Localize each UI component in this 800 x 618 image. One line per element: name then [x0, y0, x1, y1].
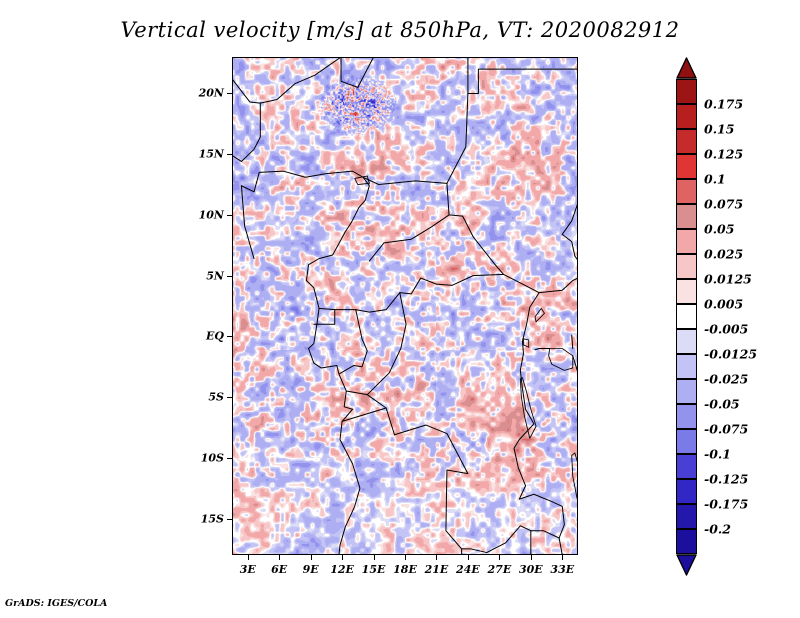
colorbar-band	[676, 429, 697, 454]
y-tick-mark	[227, 215, 232, 216]
colorbar-band	[676, 104, 697, 129]
y-tick-mark	[227, 336, 232, 337]
colorbar-band	[676, 479, 697, 504]
x-axis-label: 3E	[240, 563, 256, 576]
x-tick-mark	[499, 555, 500, 560]
map-plot-area	[232, 57, 578, 555]
x-axis-label: 12E	[330, 563, 354, 576]
x-tick-mark	[279, 555, 280, 560]
colorbar-tick-label: -0.2	[704, 522, 731, 537]
y-tick-mark	[227, 397, 232, 398]
x-tick-mark	[374, 555, 375, 560]
y-axis-label: 10S	[184, 451, 224, 464]
colorbar: 0.1750.150.1250.10.0750.050.0250.01250.0…	[676, 57, 796, 557]
colorbar-tick-label: 0.005	[704, 297, 743, 312]
colorbar-tick-label: 0.15	[704, 122, 734, 137]
colorbar-band	[676, 279, 697, 304]
y-tick-mark	[227, 154, 232, 155]
x-axis-label: 15E	[362, 563, 386, 576]
colorbar-tick-label: -0.175	[704, 497, 748, 512]
x-axis-label: 6E	[271, 563, 287, 576]
colorbar-band	[676, 379, 697, 404]
y-tick-mark	[227, 276, 232, 277]
colorbar-band	[676, 154, 697, 179]
colorbar-tick-label: -0.125	[704, 472, 748, 487]
x-axis-label: 18E	[393, 563, 417, 576]
colorbar-band	[676, 204, 697, 229]
y-axis-label: 5S	[184, 391, 224, 404]
colorbar-band	[676, 179, 697, 204]
colorbar-band	[676, 304, 697, 329]
y-axis-label: 5N	[184, 269, 224, 282]
colorbar-tick-label: -0.0125	[704, 347, 757, 362]
x-tick-mark	[531, 555, 532, 560]
x-axis-label: 9E	[303, 563, 319, 576]
x-axis-label: 33E	[550, 563, 574, 576]
x-tick-mark	[248, 555, 249, 560]
colorbar-band	[676, 404, 697, 429]
colorbar-tick-label: 0.075	[704, 197, 743, 212]
colorbar-tick-label: 0.175	[704, 97, 743, 112]
colorbar-tick-label: -0.1	[704, 447, 731, 462]
x-tick-mark	[468, 555, 469, 560]
colorbar-bottom-arrow	[676, 554, 697, 576]
page-title: Vertical velocity [m/s] at 850hPa, VT: 2…	[0, 18, 800, 42]
colorbar-band	[676, 354, 697, 379]
colorbar-band	[676, 329, 697, 354]
colorbar-tick-label: -0.005	[704, 322, 748, 337]
y-tick-mark	[227, 458, 232, 459]
x-tick-mark	[311, 555, 312, 560]
x-tick-mark	[405, 555, 406, 560]
colorbar-band	[676, 129, 697, 154]
x-axis-label: 21E	[425, 563, 449, 576]
colorbar-band	[676, 229, 697, 254]
colorbar-tick-label: -0.05	[704, 397, 740, 412]
x-tick-mark	[562, 555, 563, 560]
vertical-velocity-heatmap	[232, 57, 578, 555]
colorbar-tick-label: 0.125	[704, 147, 743, 162]
colorbar-tick-label: 0.025	[704, 247, 743, 262]
x-axis-label: 27E	[488, 563, 512, 576]
colorbar-band	[676, 454, 697, 479]
colorbar-tick-label: -0.025	[704, 372, 748, 387]
y-axis-label: 10N	[184, 208, 224, 221]
y-tick-mark	[227, 519, 232, 520]
footer-credit: GrADS: IGES/COLA	[5, 598, 107, 609]
x-axis-label: 24E	[456, 563, 480, 576]
colorbar-top-arrow	[676, 57, 697, 79]
x-tick-mark	[436, 555, 437, 560]
colorbar-tick-label: -0.075	[704, 422, 748, 437]
x-axis-label: 30E	[519, 563, 543, 576]
colorbar-band	[676, 529, 697, 554]
colorbar-tick-label: 0.05	[704, 222, 734, 237]
y-axis-label: 15N	[184, 148, 224, 161]
y-axis-label: EQ	[184, 330, 224, 343]
colorbar-band	[676, 254, 697, 279]
colorbar-band	[676, 504, 697, 529]
x-tick-mark	[342, 555, 343, 560]
colorbar-tick-label: 0.1	[704, 172, 726, 187]
y-axis-label: 20N	[184, 87, 224, 100]
y-axis-label: 15S	[184, 512, 224, 525]
colorbar-band	[676, 79, 697, 104]
colorbar-tick-label: 0.0125	[704, 272, 752, 287]
y-tick-mark	[227, 93, 232, 94]
